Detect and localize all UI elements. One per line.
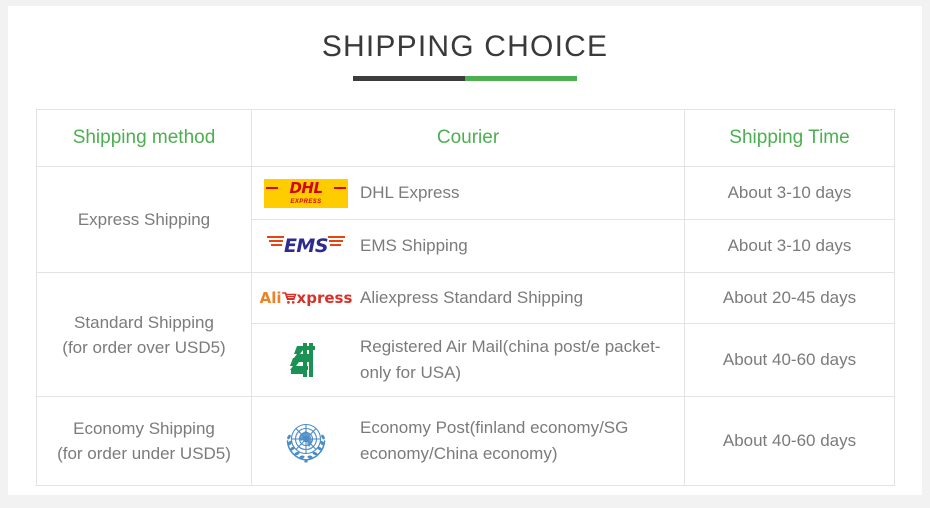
method-cell-express: Express Shipping: [37, 167, 252, 273]
courier-cell-ems: EMS EMS Shipping: [252, 220, 685, 273]
method-note: (for order under USD5): [37, 441, 251, 466]
method-name: Standard Shipping: [37, 310, 251, 335]
time-cell: About 40-60 days: [685, 324, 895, 397]
courier-name: Registered Air Mail(china post/e packet-…: [360, 334, 684, 386]
method-cell-standard: Standard Shipping (for order over USD5): [37, 273, 252, 397]
china-post-logo: [283, 337, 329, 383]
title-block: SHIPPING CHOICE: [8, 6, 922, 81]
courier-name: Aliexpress Standard Shipping: [360, 285, 595, 311]
title-underline-green: [465, 76, 577, 81]
dhl-subtext: EXPRESS: [264, 199, 348, 206]
time-cell: About 40-60 days: [685, 397, 895, 486]
ems-stripe: [267, 236, 284, 238]
table-header-row: Shipping method Courier Shipping Time: [37, 110, 895, 167]
logo-slot: [252, 337, 360, 383]
aliexpress-logo: Ali xpr: [260, 287, 353, 309]
title-underline: [353, 76, 577, 81]
method-name: Express Shipping: [37, 207, 251, 232]
ems-stripe: [271, 244, 282, 246]
header-shipping-time: Shipping Time: [685, 110, 895, 167]
method-cell-economy: Economy Shipping (for order under USD5): [37, 397, 252, 486]
method-name: Economy Shipping: [37, 416, 251, 441]
logo-slot: Ali xpr: [252, 287, 360, 309]
courier-cell-dhl: DHL EXPRESS DHL Express: [252, 167, 685, 220]
aliexpress-ali-text: Ali: [260, 288, 282, 308]
logo-slot: DHL EXPRESS: [252, 179, 360, 208]
dhl-wordmark: DHL: [264, 180, 348, 197]
logo-slot: EMS: [252, 231, 360, 261]
ems-stripe: [269, 240, 283, 242]
time-cell: About 3-10 days: [685, 167, 895, 220]
method-note: (for order over USD5): [37, 335, 251, 360]
courier-name: Economy Post(finland economy/SG economy/…: [360, 415, 684, 467]
time-cell: About 3-10 days: [685, 220, 895, 273]
courier-cell-economy-post: Economy Post(finland economy/SG economy/…: [252, 397, 685, 486]
ems-logo: EMS: [265, 231, 347, 261]
un-post-logo: [278, 413, 334, 469]
courier-cell-aliexpress: Ali xpr: [252, 273, 685, 324]
shipping-table: Shipping method Courier Shipping Time Ex…: [36, 109, 895, 486]
dhl-logo: DHL EXPRESS: [264, 179, 348, 208]
title-underline-dark: [353, 76, 465, 81]
header-shipping-method: Shipping method: [37, 110, 252, 167]
aliexpress-xpress-text: xpress: [297, 288, 353, 308]
ems-stripe: [330, 244, 341, 246]
logo-slot: [252, 413, 360, 469]
shopping-cart-icon: [282, 291, 297, 305]
table-row: Standard Shipping (for order over USD5) …: [37, 273, 895, 324]
courier-cell-china-post: Registered Air Mail(china post/e packet-…: [252, 324, 685, 397]
table-row: Economy Shipping (for order under USD5): [37, 397, 895, 486]
ems-stripe: [328, 236, 345, 238]
courier-name: EMS Shipping: [360, 233, 480, 259]
page-title: SHIPPING CHOICE: [8, 28, 922, 66]
time-cell: About 20-45 days: [685, 273, 895, 324]
ems-stripe: [329, 240, 343, 242]
ems-wordmark: EMS: [283, 235, 329, 257]
table-row: Express Shipping DHL EXPRESS DHL Expr: [37, 167, 895, 220]
courier-name: DHL Express: [360, 180, 472, 206]
header-courier: Courier: [252, 110, 685, 167]
shipping-choice-card: SHIPPING CHOICE Shipping method Courier …: [8, 6, 922, 495]
